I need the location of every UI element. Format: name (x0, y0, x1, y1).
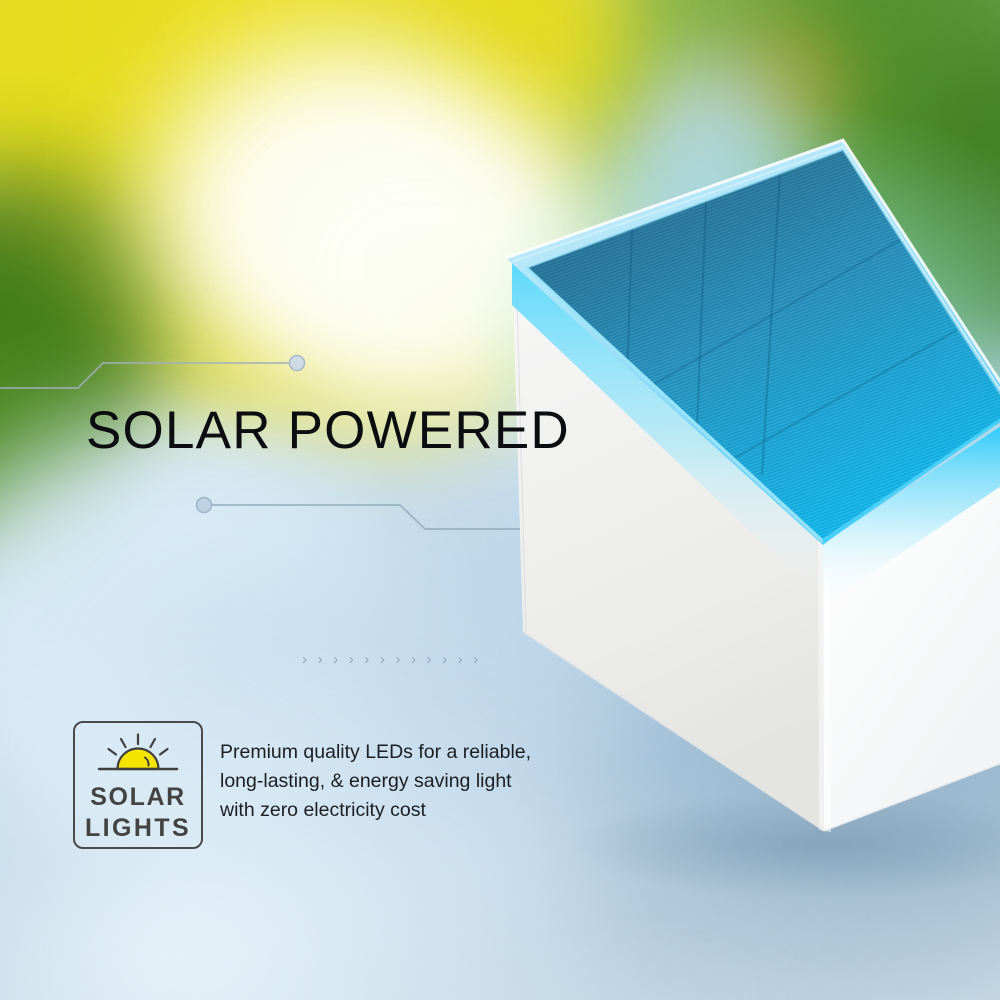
chevron-row: › › › › › › › › › › › › (302, 652, 481, 667)
solar-lights-badge: SOLAR LIGHTS (73, 721, 203, 849)
half-sun-with-rays-icon (86, 733, 190, 777)
description-line-3: with zero electricity cost (220, 796, 570, 825)
badge-label-lights: LIGHTS (85, 816, 191, 841)
page-title: SOLAR POWERED (86, 404, 570, 457)
description-line-2: long-lasting, & energy saving light (220, 767, 570, 796)
badge-label-solar: SOLAR (90, 785, 186, 810)
description-text: Premium quality LEDs for a reliable, lon… (220, 738, 570, 825)
description-line-1: Premium quality LEDs for a reliable, (220, 738, 570, 767)
sun-glare-highlight (250, 120, 590, 410)
product-marketing-banner: › › › › › › › › › › › › SOLAR POWERED SO… (0, 0, 1000, 1000)
